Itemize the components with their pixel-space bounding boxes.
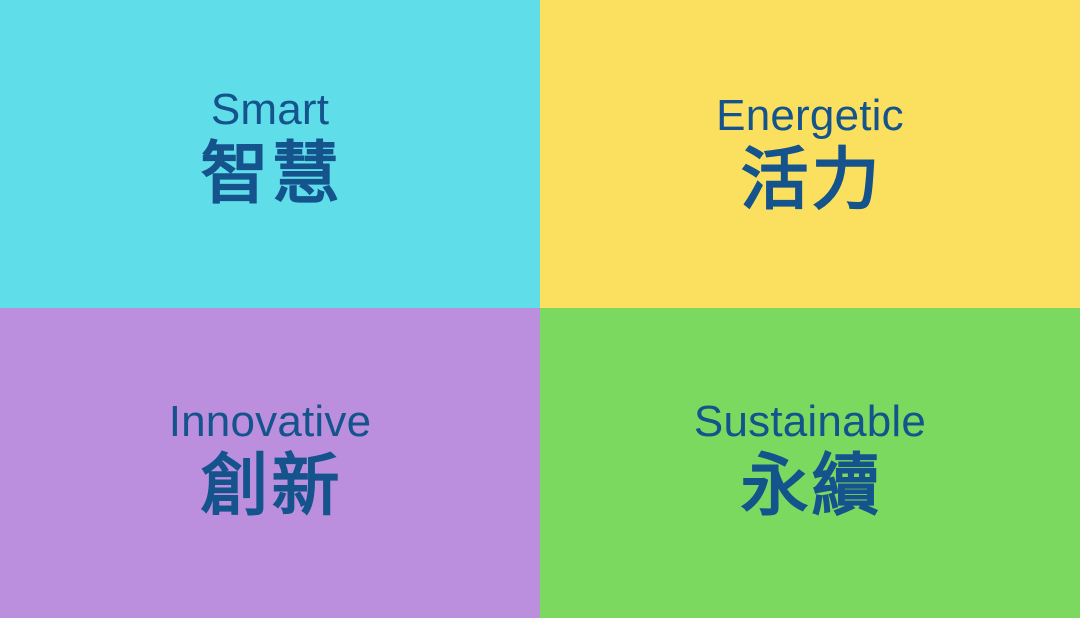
brand-values-grid: Smart 智慧 Energetic 活力 Innovative 創新 Sust… xyxy=(0,0,1080,618)
quadrant-energetic: Energetic 活力 xyxy=(540,0,1080,308)
quadrant-innovative: Innovative 創新 xyxy=(0,308,540,618)
quadrant-smart: Smart 智慧 xyxy=(0,0,540,308)
quadrant-sustainable-content: Sustainable 永續 xyxy=(694,400,926,523)
quadrant-energetic-chinese-label: 活力 xyxy=(737,144,882,217)
quadrant-smart-content: Smart 智慧 xyxy=(197,88,342,211)
quadrant-innovative-english-label: Innovative xyxy=(169,400,372,444)
quadrant-energetic-english-label: Energetic xyxy=(716,94,904,138)
quadrant-smart-chinese-label: 智慧 xyxy=(197,138,342,211)
quadrant-sustainable-chinese-label: 永續 xyxy=(737,450,882,523)
quadrant-innovative-content: Innovative 創新 xyxy=(169,400,372,523)
quadrant-smart-english-label: Smart xyxy=(211,88,329,132)
quadrant-energetic-content: Energetic 活力 xyxy=(716,94,904,217)
quadrant-sustainable-english-label: Sustainable xyxy=(694,400,926,444)
quadrant-sustainable: Sustainable 永續 xyxy=(540,308,1080,618)
quadrant-innovative-chinese-label: 創新 xyxy=(197,450,342,523)
